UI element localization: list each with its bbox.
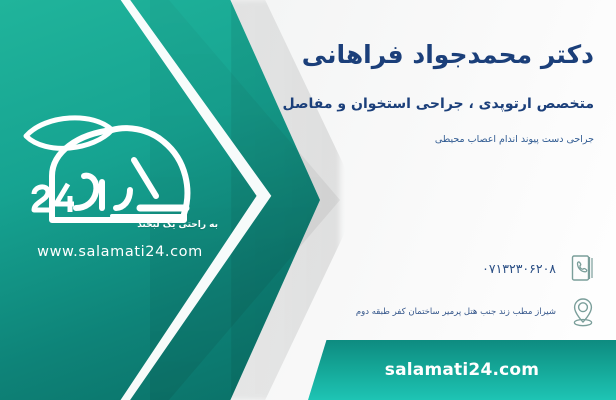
logo-url[interactable]: www.salamati24.com [16,244,224,260]
map-pin-icon [566,292,600,332]
phone-number: ۰۷۱۳۲۳۰۶۲۰۸ [482,261,556,276]
doctor-specialty: متخصص ارتوپدی ، جراحی استخوان و مفاصل [283,96,594,112]
doctor-name: دکتر محمدجواد فراهانی [302,40,594,69]
contact-phone-row[interactable]: ۰۷۱۳۲۳۰۶۲۰۸ [482,248,600,288]
business-card: به راحتی یک لبخند www.salamati24.com دکت… [0,0,616,400]
phone-book-icon [566,248,600,288]
footer-website: salamati24.com [385,360,539,380]
doctor-subspecialty: جراحی دست پیوند اندام اعصاب محیطی [435,134,594,145]
contact-address-row[interactable]: شیراز مطب زند جنب هتل پرمیر ساختمان کفر … [356,292,600,332]
logo-tagline: به راحتی یک لبخند [137,220,218,230]
clinic-address: شیراز مطب زند جنب هتل پرمیر ساختمان کفر … [356,307,556,317]
footer-bar[interactable]: salamati24.com [308,340,616,400]
brand-logo: به راحتی یک لبخند www.salamati24.com [16,104,224,276]
